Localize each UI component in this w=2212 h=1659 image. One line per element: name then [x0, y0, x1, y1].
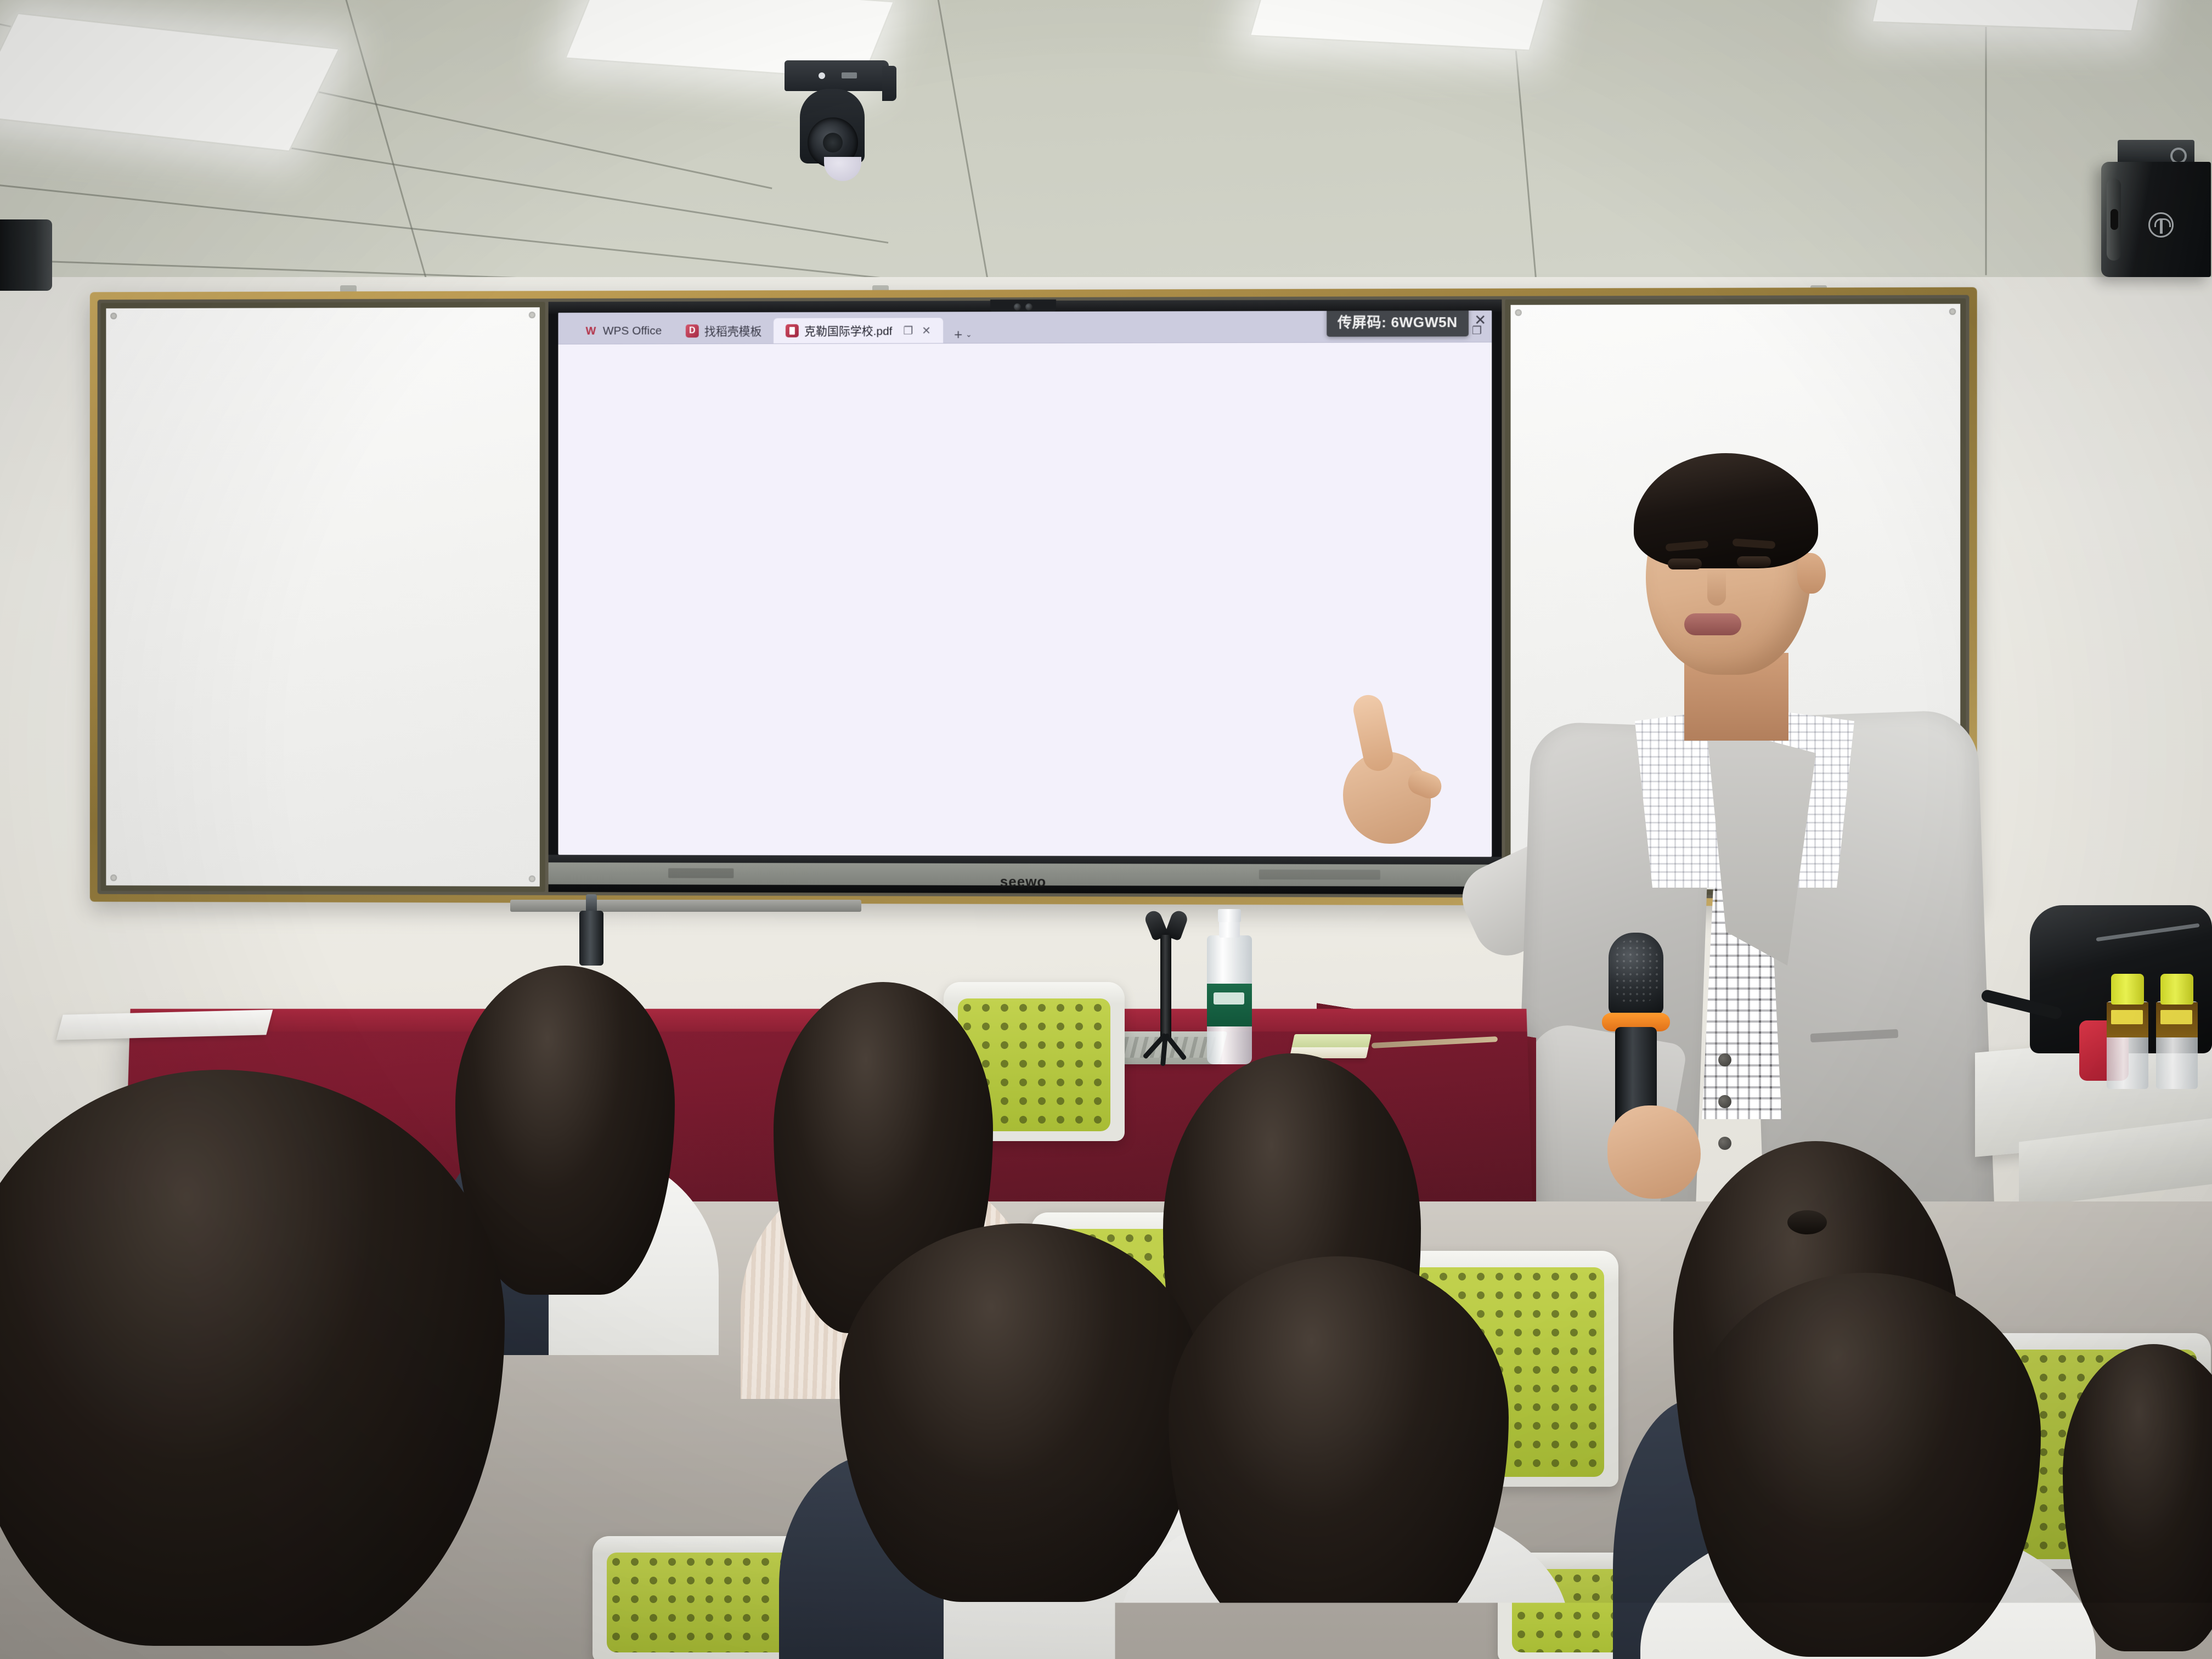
screw-icon: [529, 876, 535, 882]
wps-tab-bar[interactable]: W WPS Office 找稻壳模板 克勒国际学校.pdf ❐: [558, 311, 1492, 345]
presenter-pointing-hand: [1311, 713, 1437, 845]
audience-hair: [839, 1223, 1201, 1602]
ceiling-tile-seam: [340, 0, 477, 291]
presenter-hair: [1634, 453, 1818, 568]
microphone-capsule: [1609, 933, 1663, 1015]
presenter-ear: [1797, 553, 1826, 594]
marker-barrel: [579, 911, 603, 966]
tab-restore-icon[interactable]: ❐: [903, 324, 913, 337]
chevron-down-icon: ⌄: [966, 330, 972, 339]
ptz-camera-icon: [785, 60, 889, 187]
left-wall-speaker: [0, 219, 52, 291]
marker-tip: [586, 894, 597, 913]
tab-docer-template[interactable]: 找稻壳模板: [674, 318, 774, 343]
yellow-cap-bottle: [2107, 974, 2148, 1089]
presenter-eye: [1668, 558, 1702, 569]
camera-dome: [824, 157, 861, 181]
audience-member: [1690, 1273, 2041, 1659]
panel-chin-left-marking: [668, 868, 733, 878]
bag-zipper: [2096, 923, 2199, 941]
tab-close-icon[interactable]: ✕: [922, 324, 931, 337]
audience-hair: [2063, 1344, 2212, 1651]
presenter-eye: [1737, 556, 1771, 567]
microphone-on-tripod: [1130, 911, 1201, 1070]
ceiling-tile-seam: [0, 181, 1058, 291]
presenter-mouth: [1684, 613, 1741, 635]
ceiling-tile-seam: [1985, 0, 1987, 275]
tab-label: 找稻壳模板: [704, 323, 761, 339]
hair-tie: [1787, 1210, 1827, 1234]
new-tab-button[interactable]: + ⌄: [954, 326, 972, 343]
jacket-button: [1718, 1053, 1731, 1066]
audience-hair: [1169, 1256, 1509, 1640]
wps-logo-icon: W: [584, 325, 597, 338]
plus-icon: +: [954, 326, 962, 343]
pen-tray: [510, 900, 861, 912]
whiteboard-marker: [576, 894, 607, 966]
audience-hair: [0, 1070, 505, 1646]
yellow-cap-bottle: [2156, 974, 2198, 1089]
panel-camera-lens-icon: [1025, 303, 1032, 310]
tab-pdf-document[interactable]: 克勒国际学校.pdf ❐ ✕: [774, 318, 943, 343]
ptz-camera-base: [785, 60, 889, 91]
tab-label: 克勒国际学校.pdf: [804, 323, 893, 339]
water-bottle: [1207, 919, 1252, 1064]
ceiling-light-panel: [1249, 0, 1549, 52]
bottle-label: [2107, 1002, 2148, 1037]
papers-on-desk: [57, 1009, 273, 1040]
speaker-side-vent: [2107, 178, 2121, 261]
audience-member-foreground: [0, 1070, 521, 1659]
speaker-brand-badge-icon: [2148, 212, 2174, 238]
cast-code-banner: 传屏码: 6WGW5N: [1327, 311, 1469, 337]
tab-action-group[interactable]: ❐ ✕: [903, 324, 931, 337]
panel-chin-right-marking: [1259, 870, 1380, 880]
window-close-icon[interactable]: ✕: [1474, 312, 1486, 329]
whiteboard-left: [101, 302, 545, 892]
ceiling-light-panel: [0, 12, 340, 152]
display-brand-label: seewo: [1000, 873, 1046, 890]
bottle-label: [2156, 1002, 2198, 1037]
panel-chin-plate: seewo: [549, 862, 1502, 887]
screw-icon: [110, 874, 117, 881]
tab-wps-office[interactable]: W WPS Office: [572, 319, 674, 344]
camera-led-icon: [819, 72, 825, 79]
bottle-cap: [2111, 974, 2144, 1005]
bottle-label: [1207, 984, 1252, 1026]
screw-icon: [529, 312, 535, 318]
wall-speaker: [2101, 162, 2211, 277]
mic-post: [1160, 935, 1171, 1039]
presenter-nose: [1707, 569, 1726, 606]
pdf-file-icon: [786, 324, 799, 337]
tab-label: WPS Office: [603, 325, 662, 338]
screw-icon: [1515, 309, 1522, 316]
ceiling: [0, 0, 2212, 291]
docer-template-icon: [686, 324, 699, 337]
bottle-cap: [1218, 909, 1241, 922]
bottle-cap: [2160, 974, 2193, 1005]
panel-chin-bar: seewo: [549, 855, 1502, 894]
audience-member: [1169, 1256, 1509, 1659]
panel-camera-lens-icon: [1014, 303, 1021, 311]
classroom-photo-scene: W WPS Office 找稻壳模板 克勒国际学校.pdf ❐: [0, 0, 2212, 1659]
screw-icon: [1949, 308, 1956, 315]
audience-hair: [1690, 1273, 2041, 1657]
camera-brand-logo: [842, 72, 857, 78]
screw-icon: [110, 313, 117, 319]
presenter: [1470, 439, 2052, 1262]
ceiling-light-panel: [1871, 0, 2145, 32]
ceiling-tile-seam: [932, 0, 1001, 291]
jacket-button: [1718, 1095, 1731, 1108]
